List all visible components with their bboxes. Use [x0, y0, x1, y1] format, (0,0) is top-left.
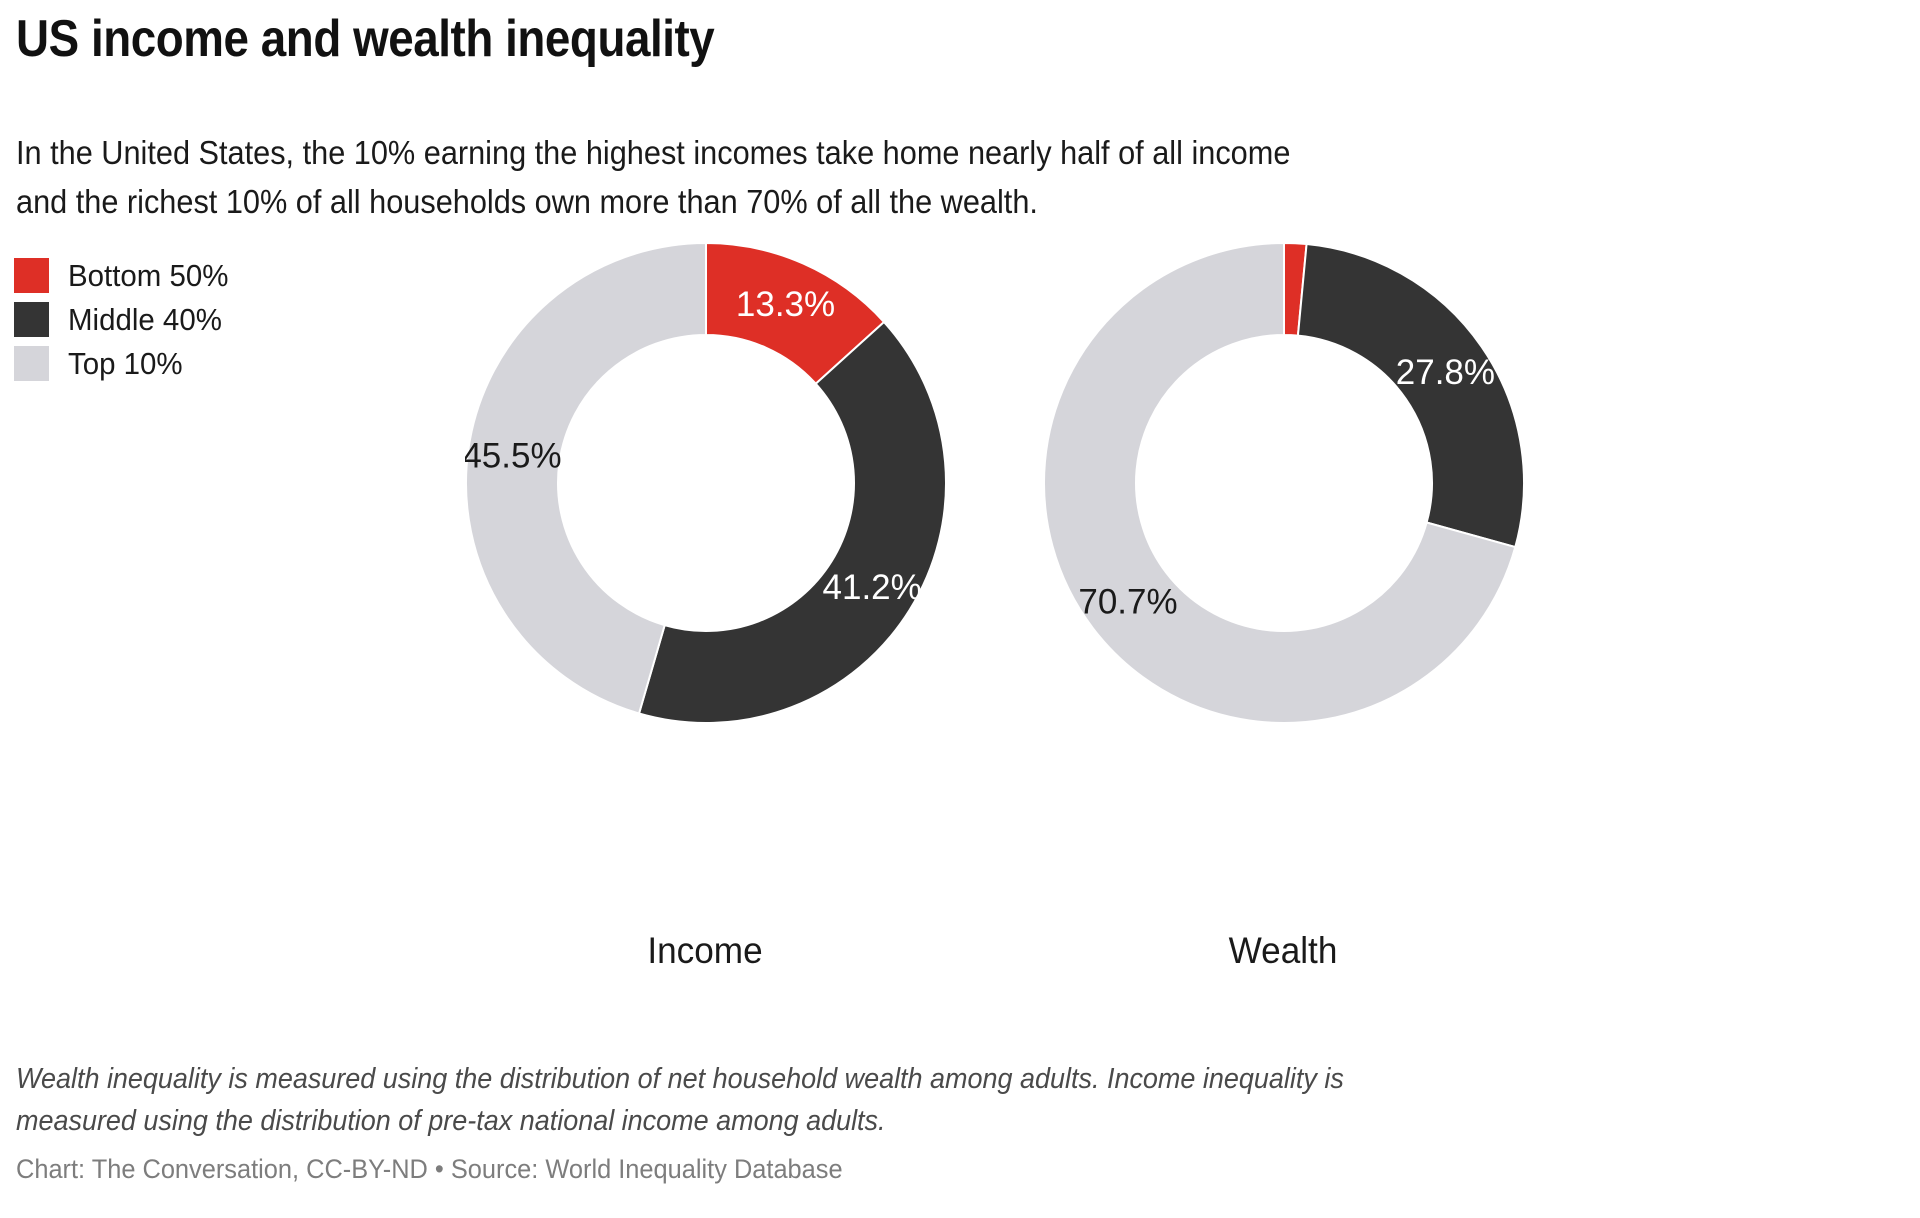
- donut-slice[interactable]: [1298, 244, 1524, 547]
- chart-figure: US income and wealth inequality In the U…: [0, 0, 1920, 1218]
- page-title: US income and wealth inequality: [16, 8, 1336, 70]
- chart-footnote-line-1: Wealth inequality is measured using the …: [16, 1058, 1774, 1100]
- legend-item-label: Middle 40%: [68, 304, 222, 335]
- legend-swatch-icon: [14, 302, 49, 337]
- donut-chart-income: 13.3%41.2%45.5%: [465, 242, 947, 724]
- chart-subtitle: In the United States, the 10% earning th…: [16, 128, 1774, 226]
- chart-credit: Chart: The Conversation, CC-BY-ND • Sour…: [16, 1152, 843, 1186]
- donut-income-svg: 13.3%41.2%45.5%: [465, 242, 947, 724]
- legend-swatch-icon: [14, 346, 49, 381]
- donut-income-title: Income: [515, 932, 895, 969]
- chart-legend: Bottom 50% Middle 40% Top 10%: [14, 253, 314, 385]
- donut-slice-label: 41.2%: [823, 568, 922, 607]
- legend-item-bottom-50[interactable]: Bottom 50%: [14, 253, 314, 297]
- donut-slice-label: 70.7%: [1078, 583, 1177, 622]
- legend-item-label: Top 10%: [68, 348, 183, 379]
- legend-swatch-icon: [14, 258, 49, 293]
- donut-slice[interactable]: [639, 322, 946, 723]
- chart-subtitle-line-1: In the United States, the 10% earning th…: [16, 128, 1774, 177]
- chart-footnote-line-2: measured using the distribution of pre-t…: [16, 1100, 1774, 1142]
- chart-subtitle-line-2: and the richest 10% of all households ow…: [16, 177, 1774, 226]
- chart-footnote: Wealth inequality is measured using the …: [16, 1058, 1774, 1142]
- legend-item-top-10[interactable]: Top 10%: [14, 341, 314, 385]
- donut-wealth-svg: 27.8%70.7%: [1043, 242, 1525, 724]
- donut-wealth-title: Wealth: [1093, 932, 1473, 969]
- legend-item-middle-40[interactable]: Middle 40%: [14, 297, 314, 341]
- donut-slice-label: 13.3%: [736, 285, 835, 324]
- donut-slice-label: 45.5%: [465, 436, 562, 475]
- donut-slice-label: 27.8%: [1396, 353, 1495, 392]
- donut-chart-wealth: 27.8%70.7%: [1043, 242, 1525, 724]
- legend-item-label: Bottom 50%: [68, 260, 228, 291]
